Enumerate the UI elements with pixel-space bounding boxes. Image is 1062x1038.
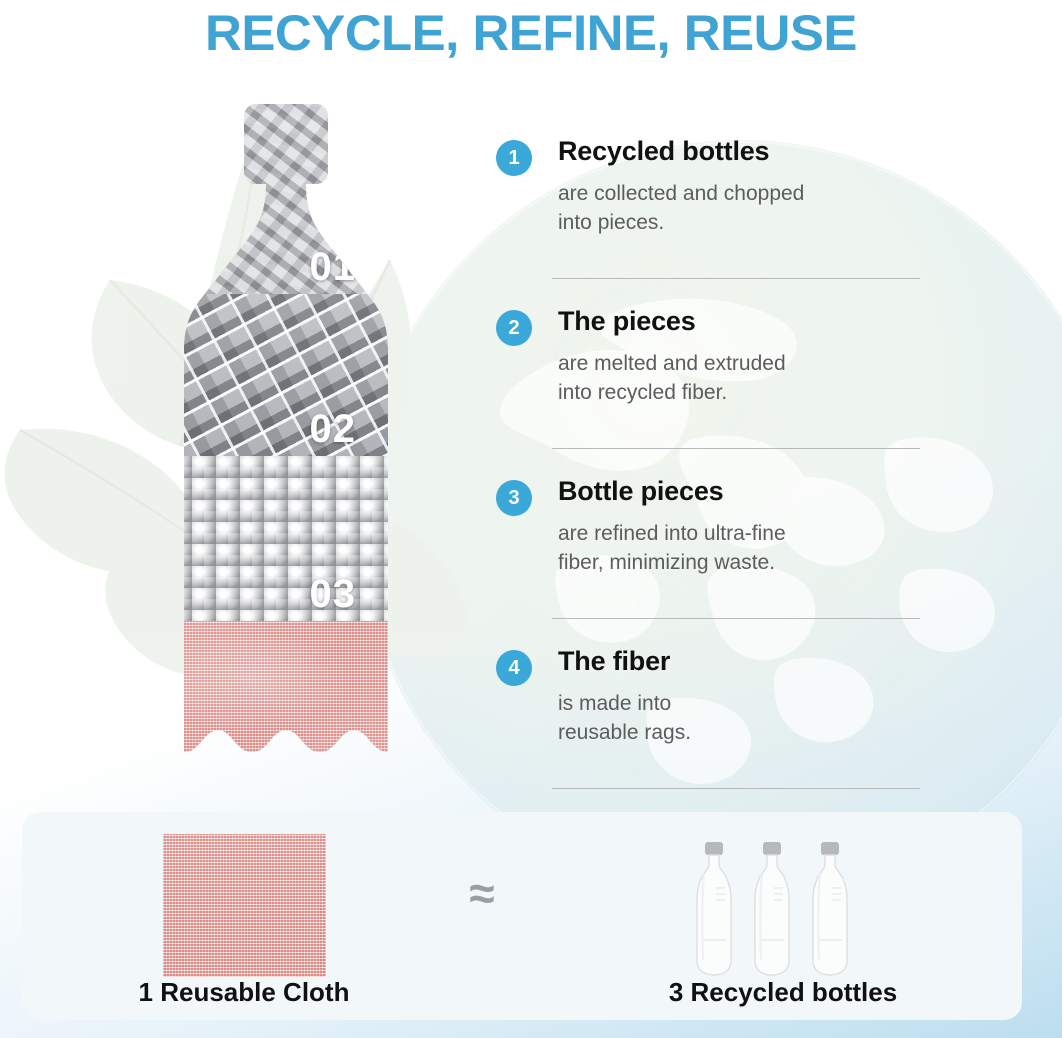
bottles-label: 3 Recycled bottles [628,977,938,1008]
step-badge-4: 4 [496,650,532,686]
step-badge-2: 2 [496,310,532,346]
reusable-cloth-swatch [163,834,326,977]
bottle-segment-number: 03 [310,572,357,617]
step-divider [552,618,920,619]
step-divider [552,788,920,789]
step-heading-3: Bottle pieces [558,476,723,507]
step-heading-4: The fiber [558,646,670,677]
plastic-flake-texture [120,104,388,294]
recycled-bottle-icon [690,840,738,978]
step-badge-1: 1 [496,140,532,176]
recycled-bottles-group [690,830,870,980]
bottle-segment-number: 01 [310,245,357,290]
pink-cloth-texture [120,621,388,794]
bottle-segment-number: 02 [310,407,357,452]
step-heading-2: The pieces [558,306,696,337]
step-heading-1: Recycled bottles [558,136,769,167]
step-badge-3: 3 [496,480,532,516]
step-body-3: are refined into ultra-fine fiber, minim… [558,520,786,578]
approximately-equal-icon: ≈ [452,866,512,920]
step-body-4: is made into reusable rags. [558,690,691,748]
bottle-segment-04: 04 [120,621,388,794]
bottle-segment-02: 02 [120,294,388,456]
step-divider [552,448,920,449]
bottle-diagram: 01 02 03 04 [120,104,388,794]
infographic-canvas: RECYCLE, REFINE, REUSE 01 02 03 [0,0,1062,1038]
recycled-bottle-icon [748,840,796,978]
page-title: RECYCLE, REFINE, REUSE [0,4,1062,62]
recycled-bottle-icon [806,840,854,978]
step-body-2: are melted and extruded into recycled fi… [558,350,786,408]
step-body-1: are collected and chopped into pieces. [558,180,804,238]
step-divider [552,278,920,279]
comparison-card: 1 Reusable Cloth 3 Recycled bottles [22,812,1022,1020]
bottle-segment-number: 04 [310,745,357,790]
bottle-segment-03: 03 [120,456,388,621]
bottle-segment-01: 01 [120,104,388,294]
cloth-label: 1 Reusable Cloth [114,977,374,1008]
